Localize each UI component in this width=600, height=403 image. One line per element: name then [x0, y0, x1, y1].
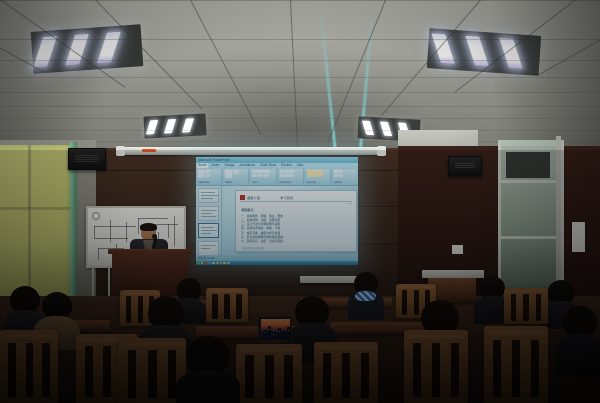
chair-rail: [122, 343, 182, 350]
slide-bullet: 七、实例演示、总结、讨论与答疑: [241, 239, 352, 243]
ribbon-group-label: Paragraph: [280, 181, 292, 184]
ceiling-grid-line: [0, 92, 600, 93]
wall-outlet-plate: [452, 245, 463, 254]
chair-slot: [126, 296, 131, 323]
chair-front-6: [404, 330, 468, 403]
tab-review[interactable]: Review: [280, 163, 292, 168]
screen-case-endcap: [377, 146, 386, 156]
ceiling-grid-line: [0, 130, 600, 131]
slide-thumbnail[interactable]: [198, 241, 219, 256]
ppt-tab-strip[interactable]: Home Insert Design Animations Slide Show…: [197, 163, 358, 168]
laptop-screen[interactable]: [261, 319, 290, 339]
chair-slot: [523, 294, 529, 321]
wall-speaker-right: [448, 156, 482, 176]
partition-dark-pane: [506, 152, 550, 178]
chair-slot: [512, 340, 520, 397]
attendee-torso: [176, 370, 240, 403]
chair-slot: [284, 355, 293, 399]
taskbar-icon[interactable]: [201, 262, 204, 265]
chair-slot: [361, 353, 369, 398]
chair-slot: [8, 343, 16, 397]
tab-design[interactable]: Design: [224, 163, 236, 168]
ribbon-group-label: Clipboard: [198, 181, 209, 184]
taskbar-icon[interactable]: [223, 262, 226, 265]
taskbar-icon[interactable]: [227, 262, 230, 265]
slide-header: 课程介绍 学习目标: [240, 194, 352, 202]
windows-taskbar[interactable]: [196, 261, 358, 265]
lecture-hall-photo: Microsoft PowerPoint Home Insert Design …: [0, 0, 600, 403]
chair-rail: [318, 346, 374, 352]
chair-slot: [224, 294, 229, 319]
ceiling-grid-line: [0, 39, 600, 40]
chair-rail: [408, 335, 464, 342]
chair-rail: [3, 335, 54, 342]
attendee-11: [176, 336, 240, 403]
chair-slot: [402, 290, 407, 315]
slide-thumbnail[interactable]: [198, 188, 219, 203]
slide-footer: 请各位学员认真听讲: [242, 246, 264, 250]
ribbon-group-paragraph[interactable]: Paragraph: [279, 169, 304, 184]
wall-speaker-left: [68, 148, 106, 170]
tab-view[interactable]: View: [296, 163, 305, 168]
ceiling-grid-line: [0, 106, 600, 107]
slide-body-title: 课程要点：: [241, 207, 352, 212]
screen-case-label: [142, 149, 156, 152]
tab-insert[interactable]: Insert: [211, 163, 221, 168]
ceiling-grid-line: [0, 0, 600, 1]
ribbon-group-label: Font: [252, 181, 257, 184]
speaker-grill: [455, 163, 475, 169]
chair-back-2: [206, 288, 248, 322]
chair-back-4: [504, 288, 548, 324]
ppt-ribbon: Home Insert Design Animations Slide Show…: [196, 163, 358, 186]
chair-slot: [323, 353, 331, 398]
ribbon-group-label: Drawing: [307, 181, 317, 184]
slide-header-right: 学习目标: [280, 195, 293, 200]
slide-thumbnail[interactable]: [198, 223, 219, 238]
ceiling-grid-line: [0, 77, 600, 78]
chair-front-5: [314, 342, 378, 403]
chair-slot: [531, 340, 539, 397]
slide-subheader: ——: [347, 202, 352, 205]
ribbon-group-label: Editing: [334, 181, 342, 184]
chair-slot: [511, 294, 517, 321]
slide-header-title: 课程介绍: [247, 195, 260, 200]
rear-left-light: [143, 113, 206, 138]
chair-slot: [342, 353, 350, 398]
chair-slot: [26, 343, 34, 397]
chair-front-4: [236, 344, 302, 403]
chair-slot: [148, 350, 157, 398]
tab-slide-show[interactable]: Slide Show: [259, 163, 277, 168]
attendee-10: [556, 306, 600, 376]
chair-slot: [128, 350, 137, 398]
slide-thumbnail-panel[interactable]: [196, 186, 222, 255]
ribbon-group-font[interactable]: Font: [251, 169, 276, 184]
chair-slot: [42, 343, 50, 397]
taskbar-icon[interactable]: [208, 262, 211, 265]
ribbon-group-slides[interactable]: Slides: [224, 169, 249, 184]
taskbar-icon[interactable]: [197, 262, 200, 265]
slide-thumbnail[interactable]: [198, 206, 219, 221]
projection-screen-case[interactable]: [120, 147, 382, 155]
chair-rail: [240, 348, 298, 354]
slide-editing-stage[interactable]: 课程介绍 学习目标 —— 课程要点： 一、基本概念、原理、特点、要求 二、系统结…: [222, 186, 358, 255]
window-blind: [0, 145, 74, 305]
chair-slot: [413, 343, 421, 397]
tab-home[interactable]: Home: [197, 163, 208, 168]
microphone-head: [152, 234, 157, 239]
taskbar-icon[interactable]: [220, 262, 223, 265]
chair-slot: [245, 355, 254, 399]
chair-slot: [265, 355, 274, 399]
laptop[interactable]: [258, 316, 292, 346]
attendee-torso: [556, 333, 600, 377]
chair-slot: [493, 340, 501, 397]
chair-slot: [432, 343, 440, 397]
slide-body: 课程要点： 一、基本概念、原理、特点、要求 二、系统结构、功能、流程分析 三、设…: [241, 207, 352, 244]
presenter-hair: [140, 223, 157, 231]
chair-slot: [451, 343, 459, 397]
ceiling: [0, 0, 600, 152]
ribbon-group-label: Slides: [225, 181, 232, 184]
attendee-5: [348, 272, 384, 320]
chair-slot: [212, 294, 217, 319]
speaker-grill: [75, 155, 98, 162]
chair-front-7: [484, 326, 548, 403]
slide-header-marker: [240, 195, 245, 200]
chair-slot: [85, 346, 93, 397]
wall-notice-paper: [572, 222, 585, 252]
taskbar-icon[interactable]: [212, 262, 215, 265]
chair-front-1: [0, 330, 58, 403]
ribbon-group-clipboard[interactable]: Clipboard: [197, 169, 222, 184]
screen-case-endcap: [116, 146, 125, 156]
ribbon-group-editing[interactable]: Editing: [333, 169, 357, 184]
tab-animations[interactable]: Animations: [238, 163, 256, 168]
blue-hood: [355, 291, 376, 301]
laptop-lid: [258, 316, 292, 341]
current-slide[interactable]: 课程介绍 学习目标 —— 课程要点： 一、基本概念、原理、特点、要求 二、系统结…: [235, 190, 357, 252]
taskbar-icon[interactable]: [216, 262, 219, 265]
chair-rail: [488, 331, 544, 339]
chair-slot: [236, 294, 241, 319]
chair-slot: [536, 294, 542, 321]
chair-slot: [103, 346, 111, 397]
ribbon-group-row: Clipboard Slides Font: [197, 169, 357, 184]
projection-screen[interactable]: Microsoft PowerPoint Home Insert Design …: [196, 157, 358, 265]
ceiling-grid-line: [0, 118, 600, 119]
taskbar-icon[interactable]: [205, 262, 208, 265]
ceiling-grid-line: [0, 60, 600, 61]
ribbon-group-drawing[interactable]: Drawing: [306, 169, 331, 184]
